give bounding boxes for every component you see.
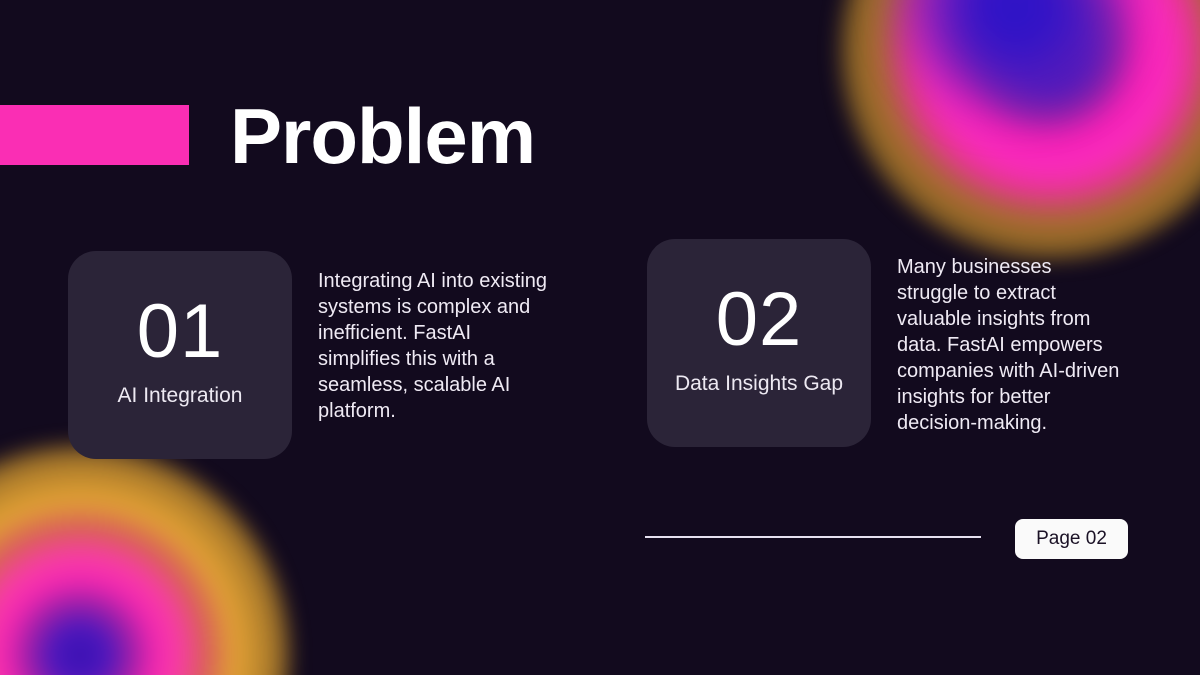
gradient-blob-bottom-left-icon bbox=[0, 445, 290, 675]
card-caption-2: Data Insights Gap bbox=[675, 370, 843, 398]
problem-item-1: 01 AI Integration Integrating AI into ex… bbox=[68, 251, 550, 459]
number-card-2: 02 Data Insights Gap bbox=[647, 239, 871, 447]
gradient-blob-top-right-core-icon bbox=[900, 0, 1130, 110]
footer-divider bbox=[645, 536, 981, 538]
item-description-2: Many businesses struggle to extract valu… bbox=[897, 254, 1127, 436]
number-card-1: 01 AI Integration bbox=[68, 251, 292, 459]
gradient-blob-top-right-icon bbox=[840, 0, 1200, 260]
page-title: Problem bbox=[230, 97, 535, 175]
card-caption-1: AI Integration bbox=[118, 382, 243, 410]
card-number-1: 01 bbox=[137, 294, 224, 370]
page-number-badge: Page 02 bbox=[1015, 519, 1128, 559]
title-accent-bar bbox=[0, 105, 189, 165]
item-description-1: Integrating AI into existing systems is … bbox=[318, 268, 550, 424]
card-number-2: 02 bbox=[716, 282, 803, 358]
slide-root: Problem 01 AI Integration Integrating AI… bbox=[0, 0, 1200, 675]
problem-item-2: 02 Data Insights Gap Many businesses str… bbox=[647, 239, 1127, 447]
